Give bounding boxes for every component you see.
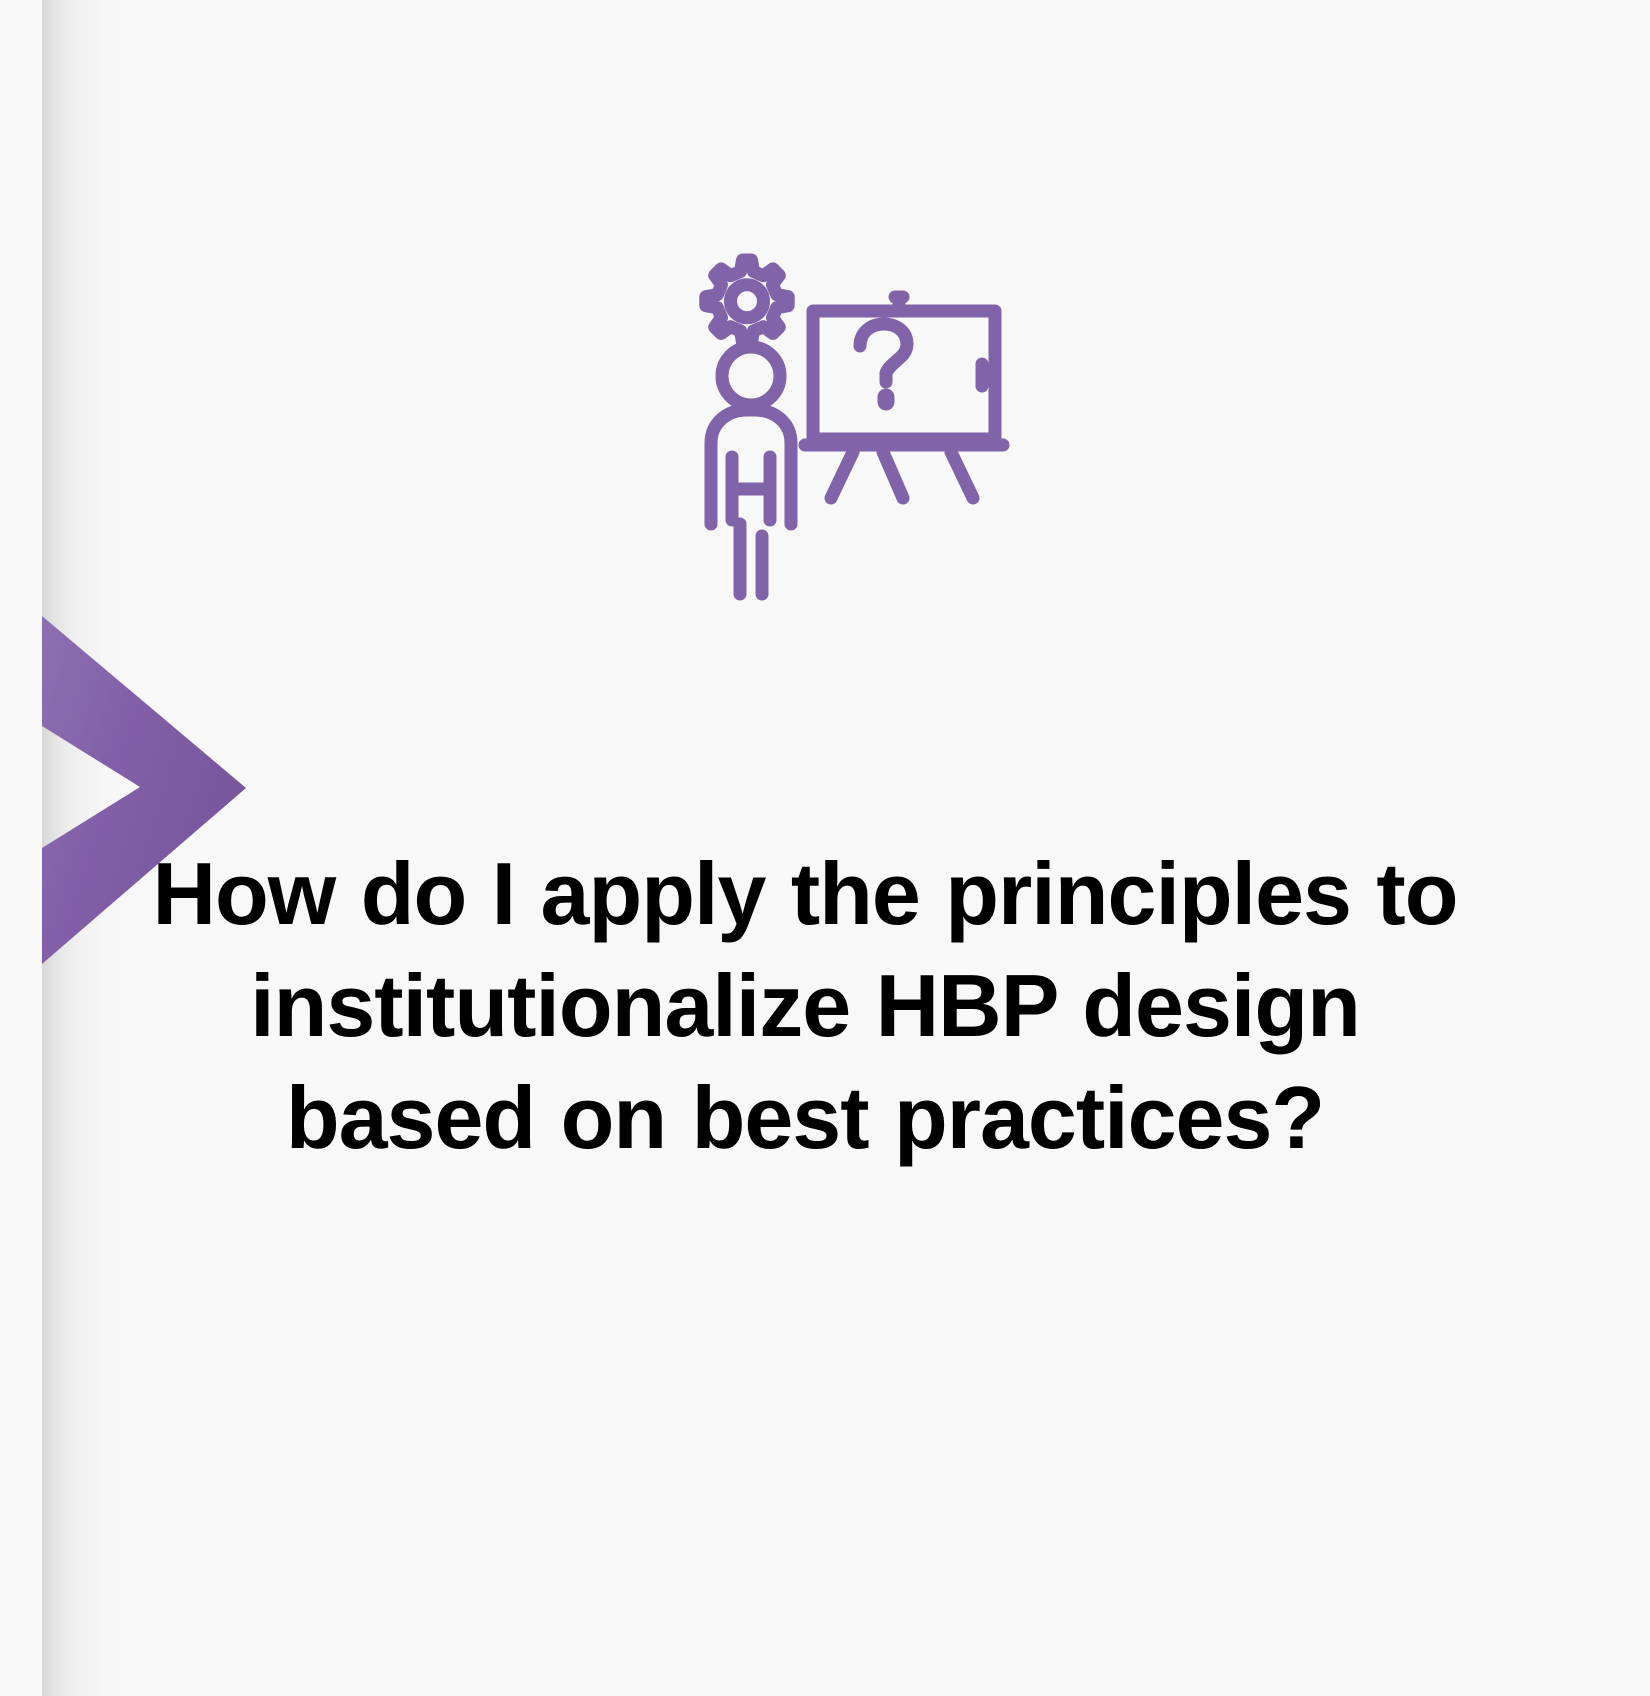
illustration-person-gear-easel bbox=[655, 240, 1025, 610]
page-title: How do I apply the principles to institu… bbox=[140, 838, 1470, 1174]
question-mark-icon bbox=[860, 324, 907, 402]
gear-icon bbox=[706, 260, 788, 342]
slide-canvas: How do I apply the principles to institu… bbox=[0, 0, 1650, 1696]
title-block: How do I apply the principles to institu… bbox=[140, 838, 1470, 1174]
person-icon bbox=[711, 347, 791, 594]
